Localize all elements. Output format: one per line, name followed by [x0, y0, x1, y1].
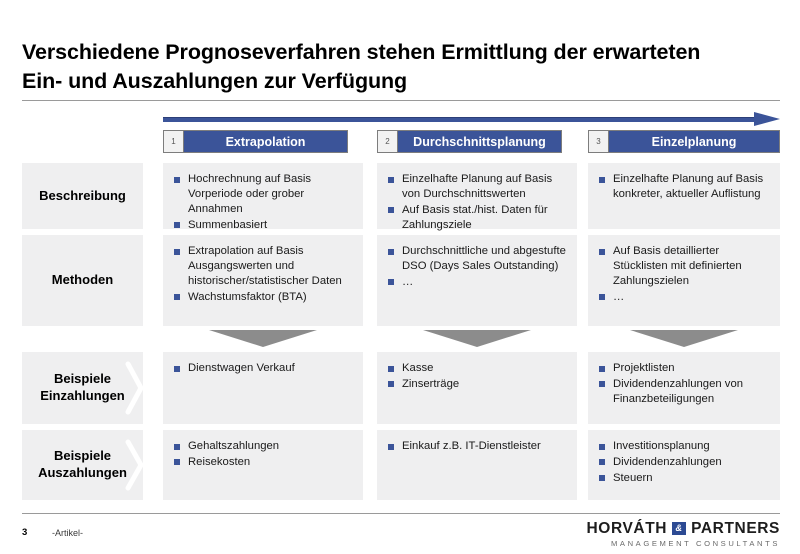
- list-item: Wachstumsfaktor (BTA): [173, 290, 353, 305]
- slide-root: Verschiedene Prognoseverfahren stehen Er…: [0, 0, 800, 554]
- bullet-list: Dienstwagen Verkauf: [173, 361, 353, 376]
- row-label-beispiele-auszahlungen: Beispiele Auszahlungen: [22, 430, 143, 500]
- down-arrow-icon-2: [423, 330, 531, 347]
- cell-beschreibung-einzelplanung: Einzelhafte Planung auf Basis konkreter,…: [588, 163, 780, 229]
- bullet-list: Hochrechnung auf Basis Vorperiode oder g…: [173, 172, 353, 233]
- title-divider: [22, 100, 780, 101]
- list-item: Dienstwagen Verkauf: [173, 361, 353, 376]
- progression-arrow-shaft: [163, 117, 755, 122]
- list-item: Investitionsplanung: [598, 439, 770, 454]
- list-item: Einzelhafte Planung auf Basis von Durchs…: [387, 172, 567, 202]
- bullet-list: Einzelhafte Planung auf Basis von Durchs…: [387, 172, 567, 233]
- logo-secondary-text: PARTNERS: [691, 521, 780, 537]
- column-header-label-1: Extrapolation: [184, 131, 347, 152]
- list-item: Zinserträge: [387, 377, 567, 392]
- cell-einzahlungen-extrapolation: Dienstwagen Verkauf: [163, 352, 363, 424]
- cell-beschreibung-durchschnittsplanung: Einzelhafte Planung auf Basis von Durchs…: [377, 163, 577, 229]
- logo-subtitle: MANAGEMENT CONSULTANTS: [587, 540, 780, 548]
- list-item: Dividendenzahlungen: [598, 455, 770, 470]
- bullet-list: Investitionsplanung Dividendenzahlungen …: [598, 439, 770, 486]
- list-item: Hochrechnung auf Basis Vorperiode oder g…: [173, 172, 353, 217]
- cell-auszahlungen-einzelplanung: Investitionsplanung Dividendenzahlungen …: [588, 430, 780, 500]
- list-item: Gehaltszahlungen: [173, 439, 353, 454]
- cell-methoden-durchschnittsplanung: Durchschnittliche und abgestufte DSO (Da…: [377, 235, 577, 326]
- row-label-text-4b: Auszahlungen: [38, 465, 127, 482]
- bullet-list: Extrapolation auf Basis Ausgangswerten u…: [173, 244, 353, 305]
- list-item: Extrapolation auf Basis Ausgangswerten u…: [173, 244, 353, 289]
- logo-wordmark: HORVÁTH & PARTNERS: [587, 521, 780, 537]
- list-item: …: [387, 275, 567, 290]
- list-item: Einzelhafte Planung auf Basis konkreter,…: [598, 172, 770, 202]
- chevron-right-icon: [124, 358, 146, 418]
- down-arrow-icon-1: [209, 330, 317, 347]
- bullet-list: Einzelhafte Planung auf Basis konkreter,…: [598, 172, 770, 202]
- list-item: Steuern: [598, 471, 770, 486]
- column-number-badge-2: 2: [378, 131, 398, 152]
- bullet-list: Durchschnittliche und abgestufte DSO (Da…: [387, 244, 567, 290]
- cell-einzahlungen-einzelplanung: Projektlisten Dividendenzahlungen von Fi…: [588, 352, 780, 424]
- page-title: Verschiedene Prognoseverfahren stehen Er…: [22, 38, 722, 95]
- list-item: Durchschnittliche und abgestufte DSO (Da…: [387, 244, 567, 274]
- footer-divider: [22, 513, 780, 514]
- column-number-badge-1: 1: [164, 131, 184, 152]
- row-label-beschreibung: Beschreibung: [22, 163, 143, 229]
- row-label-text-4a: Beispiele: [38, 448, 127, 465]
- down-arrow-icon-3: [630, 330, 738, 347]
- column-header-label-3: Einzelplanung: [609, 131, 779, 152]
- column-header-label-2: Durchschnittsplanung: [398, 131, 561, 152]
- bullet-list: Gehaltszahlungen Reisekosten: [173, 439, 353, 470]
- row-label-text-3a: Beispiele: [40, 371, 125, 388]
- list-item: …: [598, 290, 770, 305]
- list-item: Summenbasiert: [173, 218, 353, 233]
- cell-einzahlungen-durchschnittsplanung: Kasse Zinserträge: [377, 352, 577, 424]
- column-number-badge-3: 3: [589, 131, 609, 152]
- cell-auszahlungen-durchschnittsplanung: Einkauf z.B. IT-Dienstleister: [377, 430, 577, 500]
- list-item: Auf Basis stat./hist. Daten für Zahlungs…: [387, 203, 567, 233]
- list-item: Reisekosten: [173, 455, 353, 470]
- logo-ampersand-icon: &: [672, 522, 686, 535]
- row-label-text-3b: Einzahlungen: [40, 388, 125, 405]
- list-item: Dividendenzahlungen von Finanzbeteiligun…: [598, 377, 770, 407]
- cell-methoden-extrapolation: Extrapolation auf Basis Ausgangswerten u…: [163, 235, 363, 326]
- list-item: Kasse: [387, 361, 567, 376]
- bullet-list: Projektlisten Dividendenzahlungen von Fi…: [598, 361, 770, 407]
- bullet-list: Auf Basis detaillierter Stücklisten mit …: [598, 244, 770, 305]
- progression-arrow-head-icon: [754, 112, 780, 126]
- list-item: Auf Basis detaillierter Stücklisten mit …: [598, 244, 770, 289]
- column-header-3[interactable]: 3 Einzelplanung: [588, 130, 780, 153]
- bullet-list: Kasse Zinserträge: [387, 361, 567, 392]
- cell-methoden-einzelplanung: Auf Basis detaillierter Stücklisten mit …: [588, 235, 780, 326]
- cell-beschreibung-extrapolation: Hochrechnung auf Basis Vorperiode oder g…: [163, 163, 363, 229]
- logo-primary-text: HORVÁTH: [587, 521, 668, 537]
- company-logo: HORVÁTH & PARTNERS MANAGEMENT CONSULTANT…: [587, 521, 780, 547]
- row-label-text-1: Beschreibung: [39, 188, 126, 205]
- bullet-list: Einkauf z.B. IT-Dienstleister: [387, 439, 567, 454]
- progression-arrow: [163, 112, 780, 126]
- column-header-2[interactable]: 2 Durchschnittsplanung: [377, 130, 562, 153]
- column-header-1[interactable]: 1 Extrapolation: [163, 130, 348, 153]
- page-number: 3: [22, 527, 27, 538]
- row-label-text-2: Methoden: [52, 272, 113, 289]
- row-label-beispiele-einzahlungen: Beispiele Einzahlungen: [22, 352, 143, 424]
- list-item: Projektlisten: [598, 361, 770, 376]
- list-item: Einkauf z.B. IT-Dienstleister: [387, 439, 567, 454]
- chevron-right-icon: [124, 436, 146, 494]
- footer-article-label: -Artikel-: [52, 528, 83, 538]
- row-label-methoden: Methoden: [22, 235, 143, 326]
- cell-auszahlungen-extrapolation: Gehaltszahlungen Reisekosten: [163, 430, 363, 500]
